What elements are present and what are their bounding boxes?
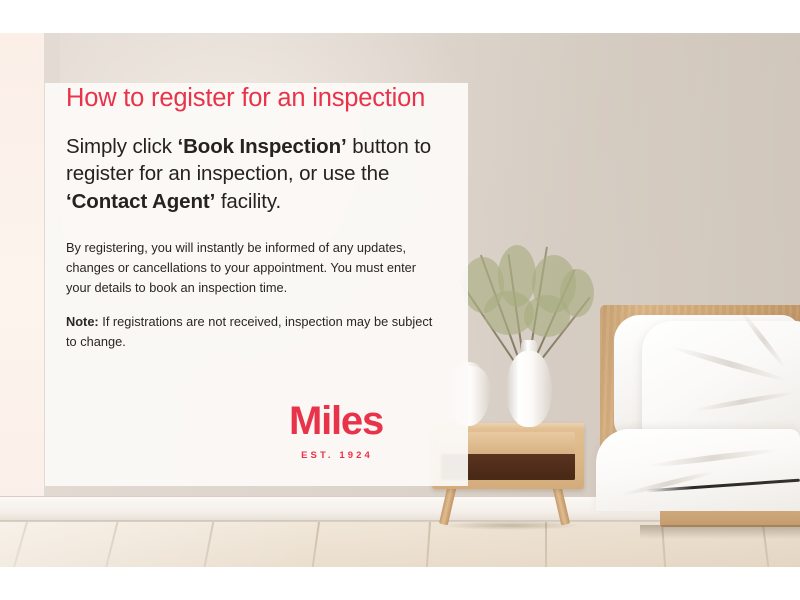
note-paragraph: Note: If registrations are not received,… bbox=[66, 312, 440, 352]
book-inspection-label: ‘Book Inspection’ bbox=[177, 135, 346, 158]
contact-agent-label: ‘Contact Agent’ bbox=[66, 190, 215, 213]
bed-duvet bbox=[596, 429, 800, 511]
brand-logo: Miles EST. 1924 bbox=[132, 401, 522, 461]
lead-text-3: facility. bbox=[215, 190, 281, 213]
logo-established: EST. 1924 bbox=[132, 450, 522, 461]
note-text: If registrations are not received, inspe… bbox=[66, 314, 432, 349]
lead-paragraph: Simply click ‘Book Inspection’ button to… bbox=[66, 133, 454, 217]
bedroom-photo: How to register for an inspection Simply… bbox=[0, 33, 800, 567]
lead-text-1: Simply click bbox=[66, 135, 177, 158]
note-label: Note: bbox=[66, 314, 99, 329]
letterbox-bottom bbox=[0, 567, 800, 600]
registration-info-paragraph: By registering, you will instantly be in… bbox=[66, 238, 440, 297]
nightstand-shadow bbox=[442, 521, 580, 530]
logo-wordmark: Miles bbox=[271, 401, 383, 441]
page-title: How to register for an inspection bbox=[66, 83, 456, 114]
bed-shadow bbox=[640, 525, 800, 539]
letterbox-top bbox=[0, 0, 800, 33]
wall-left-panel bbox=[0, 33, 44, 503]
info-panel-content: How to register for an inspection Simply… bbox=[66, 83, 456, 351]
screenshot-stage: How to register for an inspection Simply… bbox=[0, 0, 800, 600]
